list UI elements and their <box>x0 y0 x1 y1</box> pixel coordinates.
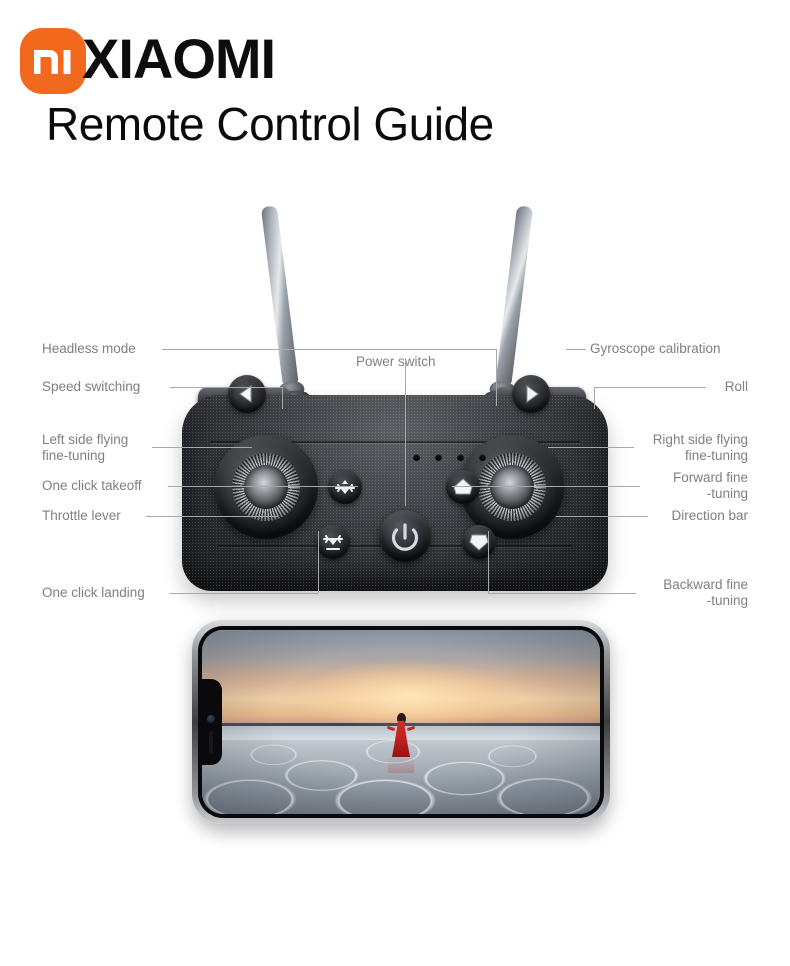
phone-notch <box>202 679 222 765</box>
leader-takeoff <box>168 486 358 487</box>
antenna-right-icon <box>494 205 533 396</box>
brand-wordmark: XIAOMI <box>82 30 275 88</box>
callout-right-side-flying-fine-tuning: Right side flying fine-tuning <box>608 432 748 464</box>
backward-fine-tuning-button[interactable] <box>462 525 496 559</box>
front-camera-icon <box>207 715 215 723</box>
callout-left-side-flying-fine-tuning: Left side flying fine-tuning <box>42 432 128 464</box>
drone-landing-icon <box>316 525 350 559</box>
callout-throttle-lever: Throttle lever <box>42 508 121 524</box>
leader-gyro-h <box>566 349 586 350</box>
leader-roll-v <box>594 387 595 409</box>
mi-glyph-icon <box>20 28 86 94</box>
leader-speed-switching-v <box>282 387 283 409</box>
callout-speed-switching: Speed switching <box>42 379 140 395</box>
callout-backward-fine-tuning: Backward fine -tuning <box>608 577 748 609</box>
leader-power-switch <box>405 362 406 506</box>
smartphone-mount <box>192 620 610 824</box>
one-click-landing-button[interactable] <box>316 525 350 559</box>
down-arrow-icon <box>462 525 496 559</box>
antenna-left-icon <box>261 205 300 396</box>
callout-forward-fine-tuning: Forward fine -tuning <box>608 470 748 502</box>
led-indicator-row <box>413 454 487 462</box>
callout-roll: Roll <box>608 379 748 395</box>
earpiece-speaker-icon <box>209 731 213 753</box>
left-arrow-icon <box>228 375 266 413</box>
callout-one-click-landing: One click landing <box>42 585 145 601</box>
remote-control-diagram: Headless mode Speed switching Left side … <box>0 170 790 966</box>
drone-remote-controller <box>176 205 614 625</box>
callout-gyroscope-calibration: Gyroscope calibration <box>590 341 721 357</box>
page-title: Remote Control Guide <box>46 98 494 150</box>
leader-headless-mode-v <box>496 349 497 406</box>
power-switch-button[interactable] <box>379 510 431 562</box>
right-arrow-icon <box>512 375 550 413</box>
right-side-flying-fine-tuning-button[interactable] <box>512 375 550 413</box>
callout-one-click-takeoff: One click takeoff <box>42 478 142 494</box>
phone-bezel <box>198 626 604 818</box>
throttle-lever-stick[interactable] <box>214 435 318 539</box>
left-side-flying-fine-tuning-button[interactable] <box>228 375 266 413</box>
leader-headless-mode-h <box>162 349 496 350</box>
callout-power-switch: Power switch <box>356 354 436 370</box>
forward-fine-tuning-button[interactable] <box>446 470 480 504</box>
phone-screen[interactable] <box>202 630 600 814</box>
power-icon <box>379 510 431 562</box>
leader-backward-v <box>488 531 489 593</box>
xiaomi-mi-logo-icon <box>20 28 86 94</box>
callout-headless-mode: Headless mode <box>42 341 136 357</box>
page-header: XIAOMI Remote Control Guide <box>0 0 790 170</box>
wallpaper-vignette <box>202 630 600 814</box>
leader-left-trim <box>152 447 252 448</box>
leader-landing-h <box>170 593 318 594</box>
leader-landing-v <box>318 531 319 593</box>
one-click-takeoff-button[interactable] <box>328 470 362 504</box>
leader-speed-switching-h <box>170 387 282 388</box>
leader-throttle <box>146 516 278 517</box>
up-arrow-icon <box>446 470 480 504</box>
callout-direction-bar: Direction bar <box>608 508 748 524</box>
drone-takeoff-icon <box>328 470 362 504</box>
